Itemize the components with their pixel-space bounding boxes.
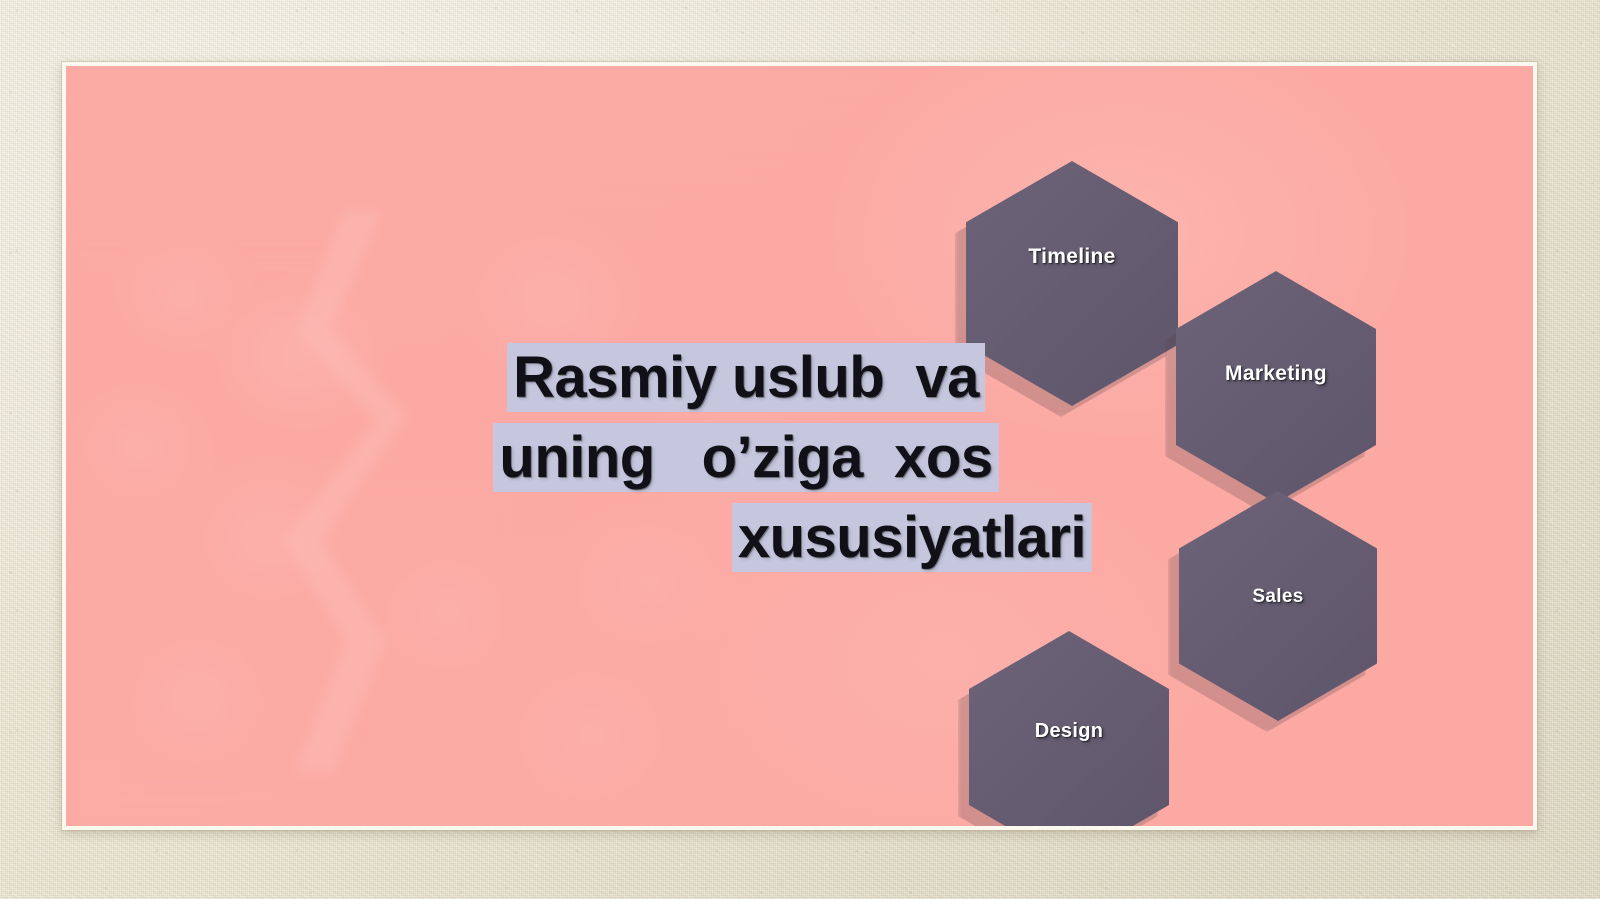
title-line-1: Rasmiy uslub va (396, 338, 1096, 418)
title-line-2-text: uning o’ziga xos (493, 423, 998, 492)
hexagon-label-design: Design (969, 615, 1169, 830)
title-line-1-text: Rasmiy uslub va (507, 343, 985, 412)
title-line-3: xususiyatlari (396, 498, 1096, 578)
hexagon-label-marketing: Marketing (1176, 258, 1376, 490)
title-line-2: uning o’ziga xos (396, 418, 1096, 498)
presentation-slide: Rasmiy uslub va uning o’ziga xos xususiy… (62, 62, 1537, 830)
hexagon-sales[interactable]: Sales (1179, 491, 1377, 721)
hexagon-marketing[interactable]: Marketing (1176, 271, 1376, 503)
title-line-3-text: xususiyatlari (732, 503, 1092, 572)
slide-title: Rasmiy uslub va uning o’ziga xos xususiy… (396, 338, 1096, 578)
hexagon-label-sales: Sales (1179, 482, 1377, 712)
hexagon-design[interactable]: Design (969, 631, 1169, 830)
